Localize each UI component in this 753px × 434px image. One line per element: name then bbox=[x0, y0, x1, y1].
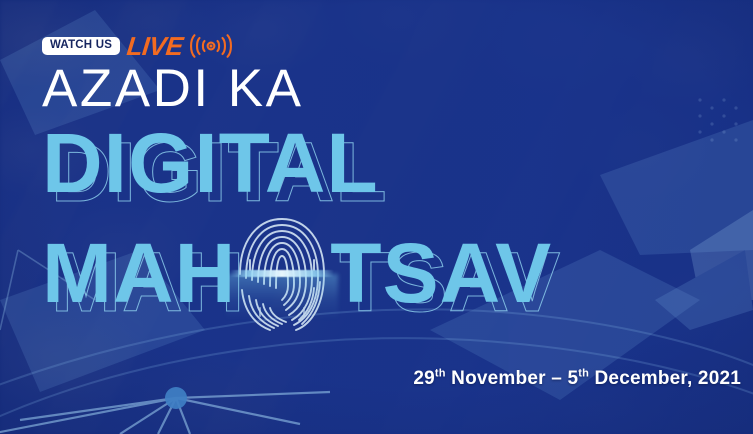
event-date-line: 29th November – 5th December, 2021 bbox=[413, 368, 741, 390]
watch-us-live-badge[interactable]: WATCH US LIVE bbox=[42, 33, 233, 59]
date-day-end: 5 bbox=[567, 368, 578, 389]
headline-line-digital: DIGITAL DIGITAL bbox=[42, 123, 732, 204]
headline-line-mahotsav: MAH MAH bbox=[42, 212, 732, 334]
date-day-start: 29 bbox=[413, 368, 435, 389]
date-month-start: November bbox=[451, 368, 546, 389]
live-label: LIVE bbox=[126, 33, 185, 59]
headline-digital-text: DIGITAL bbox=[42, 116, 379, 210]
digital-mahotsav-banner: WATCH US LIVE AZADI KA DIGITAL DIGITAL M… bbox=[0, 0, 753, 434]
watch-us-pill: WATCH US bbox=[42, 37, 120, 56]
date-day-end-ordinal: th bbox=[578, 368, 589, 380]
headline-tsav-text: TSAV bbox=[330, 226, 552, 320]
date-year: 2021 bbox=[698, 368, 741, 389]
headline-line-azadi-ka: AZADI KA bbox=[42, 62, 732, 115]
date-day-start-ordinal: th bbox=[435, 368, 446, 380]
headline-block: AZADI KA DIGITAL DIGITAL MAH MAH bbox=[42, 62, 732, 334]
headline-mah-text: MAH bbox=[42, 226, 236, 320]
fingerprint-scan-icon bbox=[236, 212, 328, 334]
date-separator: – bbox=[551, 368, 562, 389]
broadcast-signal-icon bbox=[189, 33, 233, 59]
date-month-end: December, bbox=[595, 368, 693, 389]
